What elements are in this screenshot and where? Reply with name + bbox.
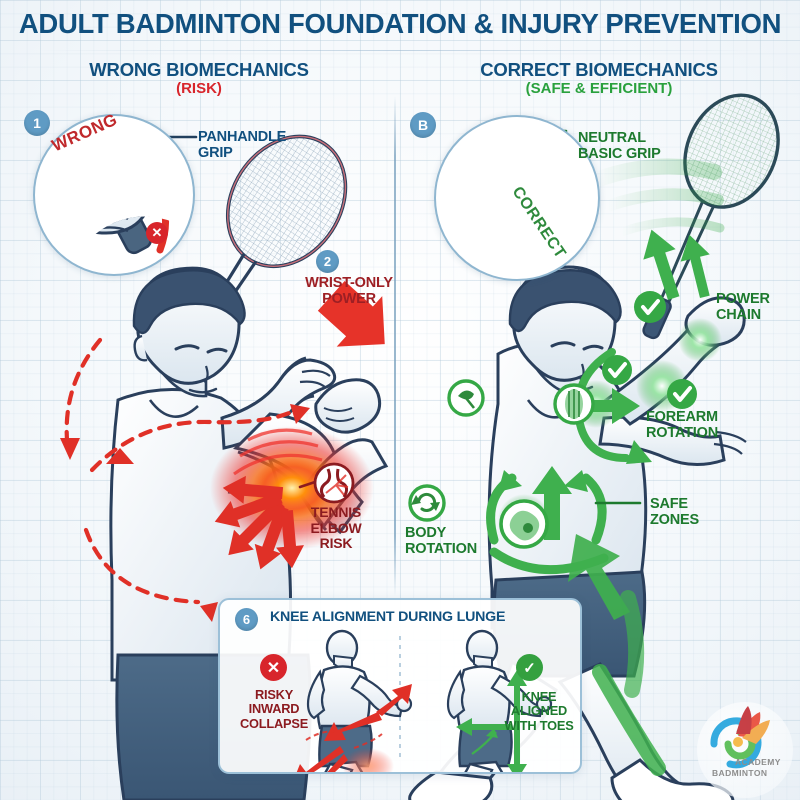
hip-rotation-arrows: [491, 478, 604, 570]
header-divider: [40, 50, 760, 51]
pain-burst-arrows: [210, 474, 306, 574]
column-divider: [394, 96, 396, 596]
column-heading-wrong: WRONG BIOMECHANICS: [4, 59, 394, 80]
tennis-elbow-risk-label: TENNIS ELBOW RISK: [296, 505, 376, 552]
wrist-only-power-label: WRIST-ONLY POWER: [295, 275, 403, 307]
badge-step-2: 2: [316, 250, 339, 273]
column-header-correct: CORRECT BIOMECHANICS (SAFE & EFFICIENT): [404, 59, 794, 98]
badge-step-b: B: [410, 112, 436, 138]
column-subheading-correct: (SAFE & EFFICIENT): [404, 80, 794, 98]
check-circle-icon-knee: ✓: [516, 654, 543, 681]
muscle-zone-icons: [449, 381, 593, 547]
safe-zones-label: SAFE ZONES: [650, 496, 720, 528]
column-header-wrong: WRONG BIOMECHANICS (RISK): [4, 59, 394, 98]
body-chain-arrows: [532, 388, 640, 540]
forearm-rotation-label: FOREARM ROTATION: [646, 409, 742, 441]
watermark-line1: ACADEMY: [735, 757, 781, 767]
forearm-rotation-arrow: [578, 352, 626, 458]
wrong-rotation-arrows: [67, 340, 296, 602]
knee-panel-art: [220, 600, 580, 772]
knee-aligned-with-toes-label: KNEE ALIGNED WITH TOES: [504, 690, 574, 733]
x-circle-icon-knee: ✕: [260, 654, 287, 681]
risky-inward-collapse-label: RISKY INWARD COLLAPSE: [234, 688, 314, 731]
infographic-poster: ADULT BADMINTON FOUNDATION & INJURY PREV…: [0, 0, 800, 800]
watermark-line2: BADMINTON: [712, 768, 767, 778]
knee-alignment-panel: 6 KNEE ALIGNMENT DURING LUNGE: [218, 598, 582, 774]
body-rotation-label: BODY ROTATION: [405, 525, 485, 557]
watermark-circle: [697, 702, 793, 798]
panhandle-grip-label: PANHANDLE GRIP: [198, 129, 318, 161]
power-chain-label: POWER CHAIN: [716, 291, 796, 323]
forearm-rotation-arrowhead: [626, 440, 652, 464]
racket-motion-trail: [596, 167, 720, 232]
page-title: ADULT BADMINTON FOUNDATION & INJURY PREV…: [0, 10, 800, 39]
wrong-rotation-arrowheads: [60, 404, 310, 622]
badge-step-1: 1: [24, 110, 50, 136]
column-heading-correct: CORRECT BIOMECHANICS: [404, 59, 794, 80]
check-mark-icons: [602, 291, 697, 409]
power-chain-arrows: [635, 224, 719, 303]
neutral-basic-grip-label: NEUTRAL BASIC GRIP: [578, 130, 670, 162]
column-subheading-wrong: (RISK): [4, 80, 394, 98]
x-circle-icon: ✕: [146, 222, 168, 244]
